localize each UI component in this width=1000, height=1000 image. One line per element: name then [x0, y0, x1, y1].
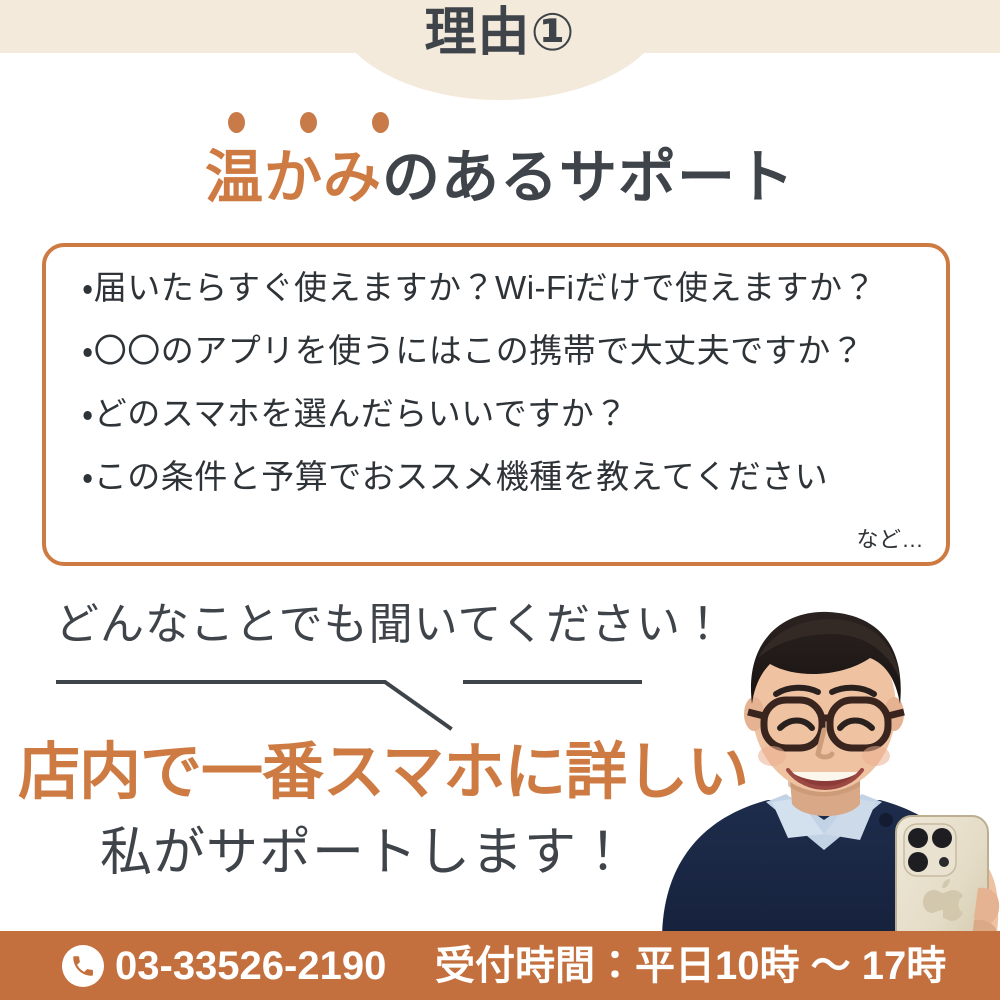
emphasis-dot [372, 112, 389, 133]
emphasis-dots [228, 112, 389, 133]
question-box-note: など… [856, 522, 924, 554]
page-title-accent: 温かみ [205, 145, 382, 210]
question-list: ・届いたらすぐ使えますか？Wi-Fiだけで使えますか？ ・〇〇のアプリを使うには… [82, 271, 932, 493]
contact-footer: 03-33526-2190 受付時間：平日10時 〜 17時 [0, 931, 1000, 1000]
list-item: ・この条件と予算でおススメ機種を教えてください [82, 460, 932, 493]
header-badge-label: 理由① [0, 7, 1000, 59]
emphasis-dot [228, 112, 245, 133]
page-title: 温かみのあるサポート [0, 146, 1000, 210]
phone-number[interactable]: 03-33526-2190 [115, 946, 386, 986]
ask-anything-text: どんなことでも聞いてください！ [55, 603, 726, 647]
page-title-rest: のあるサポート [382, 145, 795, 210]
pitch-line-primary: 店内で一番スマホに詳しい [18, 742, 748, 804]
question-box: ・届いたらすぐ使えますか？Wi-Fiだけで使えますか？ ・〇〇のアプリを使うには… [42, 243, 950, 566]
business-hours: 受付時間：平日10時 〜 17時 [435, 946, 946, 986]
poster-root: 理由① 温かみのあるサポート ・届いたらすぐ使えますか？Wi-Fiだけで使えます… [0, 0, 1000, 1000]
list-item: ・届いたらすぐ使えますか？Wi-Fiだけで使えますか？ [82, 271, 932, 304]
phone-icon [62, 945, 104, 987]
emphasis-dot [300, 112, 317, 133]
list-item: ・どのスマホを選んだらいいですか？ [82, 397, 932, 430]
list-item: ・〇〇のアプリを使うにはこの携帯で大丈夫ですか？ [82, 334, 932, 367]
pitch-line-secondary: 私がサポートします！ [100, 827, 630, 879]
